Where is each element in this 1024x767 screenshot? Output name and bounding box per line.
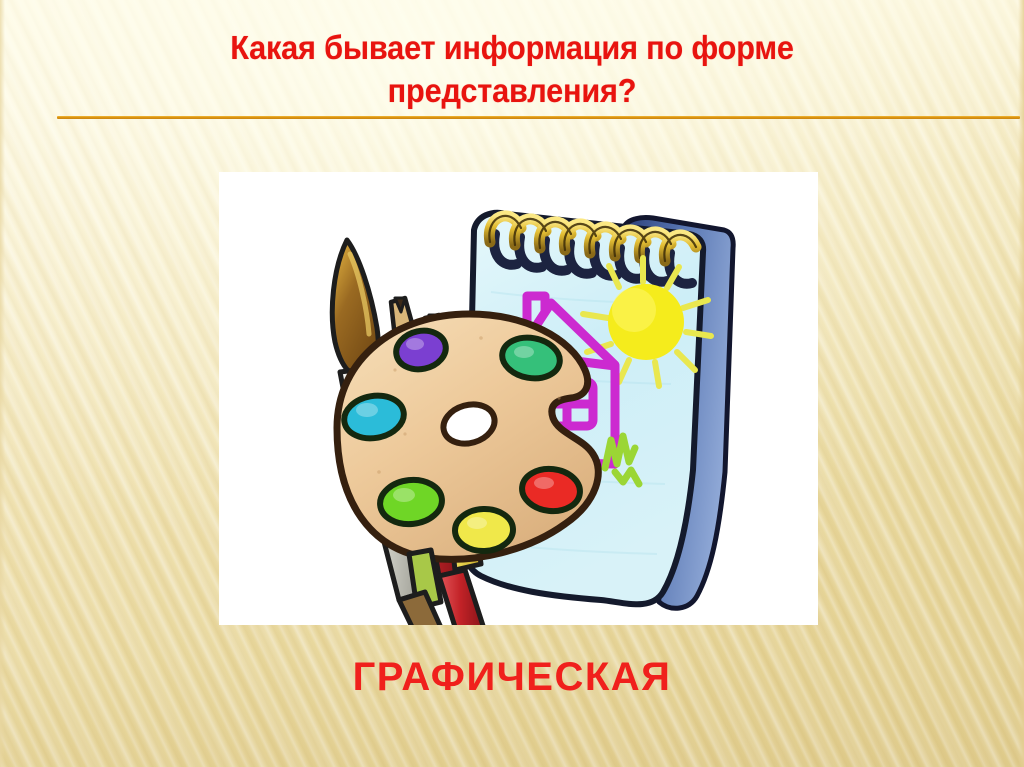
slide-title: Какая бывает информация по форме предста…	[89, 26, 935, 112]
background-left-edge	[0, 0, 5, 767]
artist-tools-illustration	[219, 172, 818, 625]
title-divider-line	[57, 116, 1020, 119]
sun-disc-highlight	[612, 288, 656, 332]
paint-well-yellow	[454, 508, 513, 552]
slide-caption: ГРАФИЧЕСКАЯ	[0, 654, 1024, 700]
illustration-panel	[219, 172, 818, 625]
presentation-slide: Какая бывает информация по форме предста…	[0, 0, 1024, 767]
artist-palette	[337, 314, 598, 559]
